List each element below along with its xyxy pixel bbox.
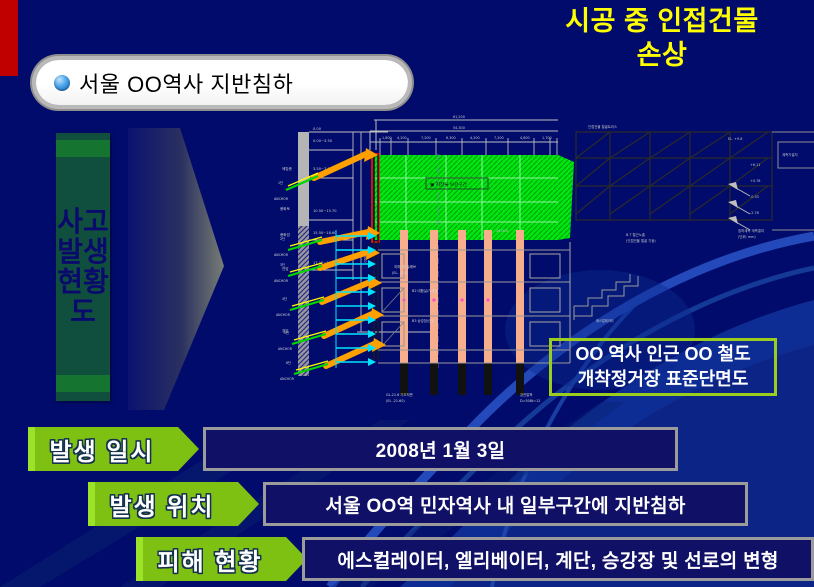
svg-text:24,000: 24,000 [496, 229, 508, 233]
label-tip [88, 482, 95, 526]
banner-cap-bottom [56, 375, 110, 392]
banner-cap-top [56, 140, 110, 157]
figure-caption-line2: 개착정거장 표준단면도 [578, 367, 749, 392]
svg-text:침하계측 계측결과: 침하계측 계측결과 [738, 228, 764, 233]
svg-text:1단: 1단 [278, 180, 283, 185]
svg-text:-2.78: -2.78 [750, 211, 759, 215]
svg-text:EL. +9.8: EL. +9.8 [728, 137, 742, 141]
info-row-occurrence-location: 발생 위치 서울 OO역 민자역사 내 일부구간에 지반침하 [88, 482, 748, 526]
svg-text:4,200: 4,200 [470, 136, 480, 140]
blue-circle-bullet-icon [54, 75, 70, 91]
svg-text:(EL. -5.2): (EL. -5.2) [392, 271, 408, 275]
figure-legend-note: ▣ 지장물 보강구간 [430, 181, 468, 188]
svg-text:계측기설치: 계측기설치 [782, 152, 798, 157]
row-value-text: 2008년 1월 3일 [376, 436, 506, 463]
svg-text:6단: 6단 [286, 360, 291, 365]
svg-text:0.00: 0.00 [313, 127, 322, 131]
svg-text:ANCHOR: ANCHOR [280, 377, 295, 381]
row-value-text: 에스컬레이터, 엘리베이터, 계단, 승강장 및 선로의 변형 [337, 546, 778, 573]
figure-caption-line1: OO 역사 인근 OO 철도 [575, 342, 750, 367]
section-heading-pill: 서울 OO역사 지반침하 [36, 60, 408, 105]
svg-text:B2 대합실/기계실: B2 대합실/기계실 [412, 288, 437, 293]
svg-text:(단위: mm): (단위: mm) [738, 234, 756, 239]
svg-text:15.50~18.60: 15.50~18.60 [313, 231, 337, 235]
info-row-occurrence-date: 발생 일시 2008년 1월 3일 [28, 427, 678, 471]
svg-text:61,200: 61,200 [453, 115, 465, 119]
svg-text:ANCHOR: ANCHOR [274, 253, 289, 257]
row-label-damage-status: 피해 현황 [136, 537, 286, 581]
row-label-text: 발생 위치 [110, 487, 215, 522]
row-label-occurrence-date: 발생 일시 [28, 427, 178, 471]
row-value-occurrence-date: 2008년 1월 3일 [203, 427, 678, 471]
svg-text:4,200: 4,200 [397, 136, 407, 140]
slide-canvas: 시공 중 인접건물 손상 서울 OO역사 지반침하 사고발생 현황도 [0, 0, 814, 587]
row-value-occurrence-location: 서울 OO역 민자역사 내 일부구간에 지반침하 [263, 482, 748, 526]
section-heading-label: 서울 OO역사 지반침하 [79, 67, 293, 99]
svg-text:강관말뚝: 강관말뚝 [520, 392, 532, 397]
row-label-text: 피해 현황 [158, 542, 263, 577]
page-title-line2: 손상 [512, 38, 812, 72]
svg-text:10.50~15.70: 10.50~15.70 [313, 209, 337, 213]
svg-text:에스컬레이터: 에스컬레이터 [596, 318, 614, 323]
svg-text:4,800: 4,800 [520, 136, 530, 140]
svg-text:지하1층 슬래브: 지하1층 슬래브 [394, 264, 416, 269]
info-row-damage-status: 피해 현황 에스컬레이터, 엘리베이터, 계단, 승강장 및 선로의 변형 [136, 537, 814, 581]
svg-text:-0.33: -0.33 [750, 195, 759, 199]
row-label-occurrence-location: 발생 위치 [88, 482, 238, 526]
svg-text:7,200: 7,200 [494, 136, 504, 140]
svg-text:4단: 4단 [282, 296, 287, 301]
svg-text:(인접건물 철골 기둥): (인접건물 철골 기둥) [626, 238, 656, 243]
svg-text:풍화토: 풍화토 [280, 206, 291, 211]
svg-text:B.T 철근노출: B.T 철근노출 [626, 232, 645, 237]
row-value-damage-status: 에스컬레이터, 엘리베이터, 계단, 승강장 및 선로의 변형 [302, 537, 814, 581]
svg-text:ANCHOR: ANCHOR [276, 313, 291, 317]
svg-text:ANCHOR: ANCHOR [274, 197, 289, 201]
svg-text:2단: 2단 [280, 236, 285, 241]
svg-text:1,800: 1,800 [382, 136, 392, 140]
svg-text:인접건물 철골트러스: 인접건물 철골트러스 [588, 124, 617, 129]
figure-caption-box: OO 역사 인근 OO 철도 개착정거장 표준단면도 [549, 338, 777, 396]
label-tip [136, 537, 143, 581]
svg-text:+0.78: +0.78 [750, 179, 760, 183]
svg-text:B3 승강장/선로: B3 승강장/선로 [412, 318, 434, 323]
svg-text:5단: 5단 [284, 330, 289, 335]
svg-text:D=508t=12: D=508t=12 [520, 399, 540, 403]
svg-text:ANCHOR: ANCHOR [278, 347, 293, 351]
svg-text:(EL -21.60): (EL -21.60) [386, 399, 405, 403]
vertical-banner-label: 사고발생 현황도 [56, 159, 110, 375]
svg-text:6,300: 6,300 [446, 136, 456, 140]
row-value-text: 서울 OO역 민자역사 내 일부구간에 지반침하 [325, 491, 685, 518]
label-tip [28, 427, 35, 471]
svg-text:3단: 3단 [280, 262, 285, 267]
svg-text:54,300: 54,300 [453, 126, 465, 130]
row-label-text: 발생 일시 [50, 432, 155, 467]
chevron-right-icon [128, 128, 228, 410]
svg-text:0.00~3.50: 0.00~3.50 [313, 139, 333, 143]
vertical-banner: 사고발생 현황도 [56, 133, 110, 401]
red-accent-bar [0, 0, 18, 76]
svg-text:GL-21.6 기초저판: GL-21.6 기초저판 [386, 392, 413, 397]
svg-text:+6.11: +6.11 [750, 163, 760, 167]
page-title-line1: 시공 중 인접건물 [512, 4, 812, 38]
svg-text:ANCHOR: ANCHOR [274, 279, 289, 283]
svg-text:1,700: 1,700 [542, 136, 552, 140]
svg-text:매립층: 매립층 [282, 166, 293, 171]
svg-text:7,200: 7,200 [421, 136, 431, 140]
page-title: 시공 중 인접건물 손상 [512, 4, 812, 72]
